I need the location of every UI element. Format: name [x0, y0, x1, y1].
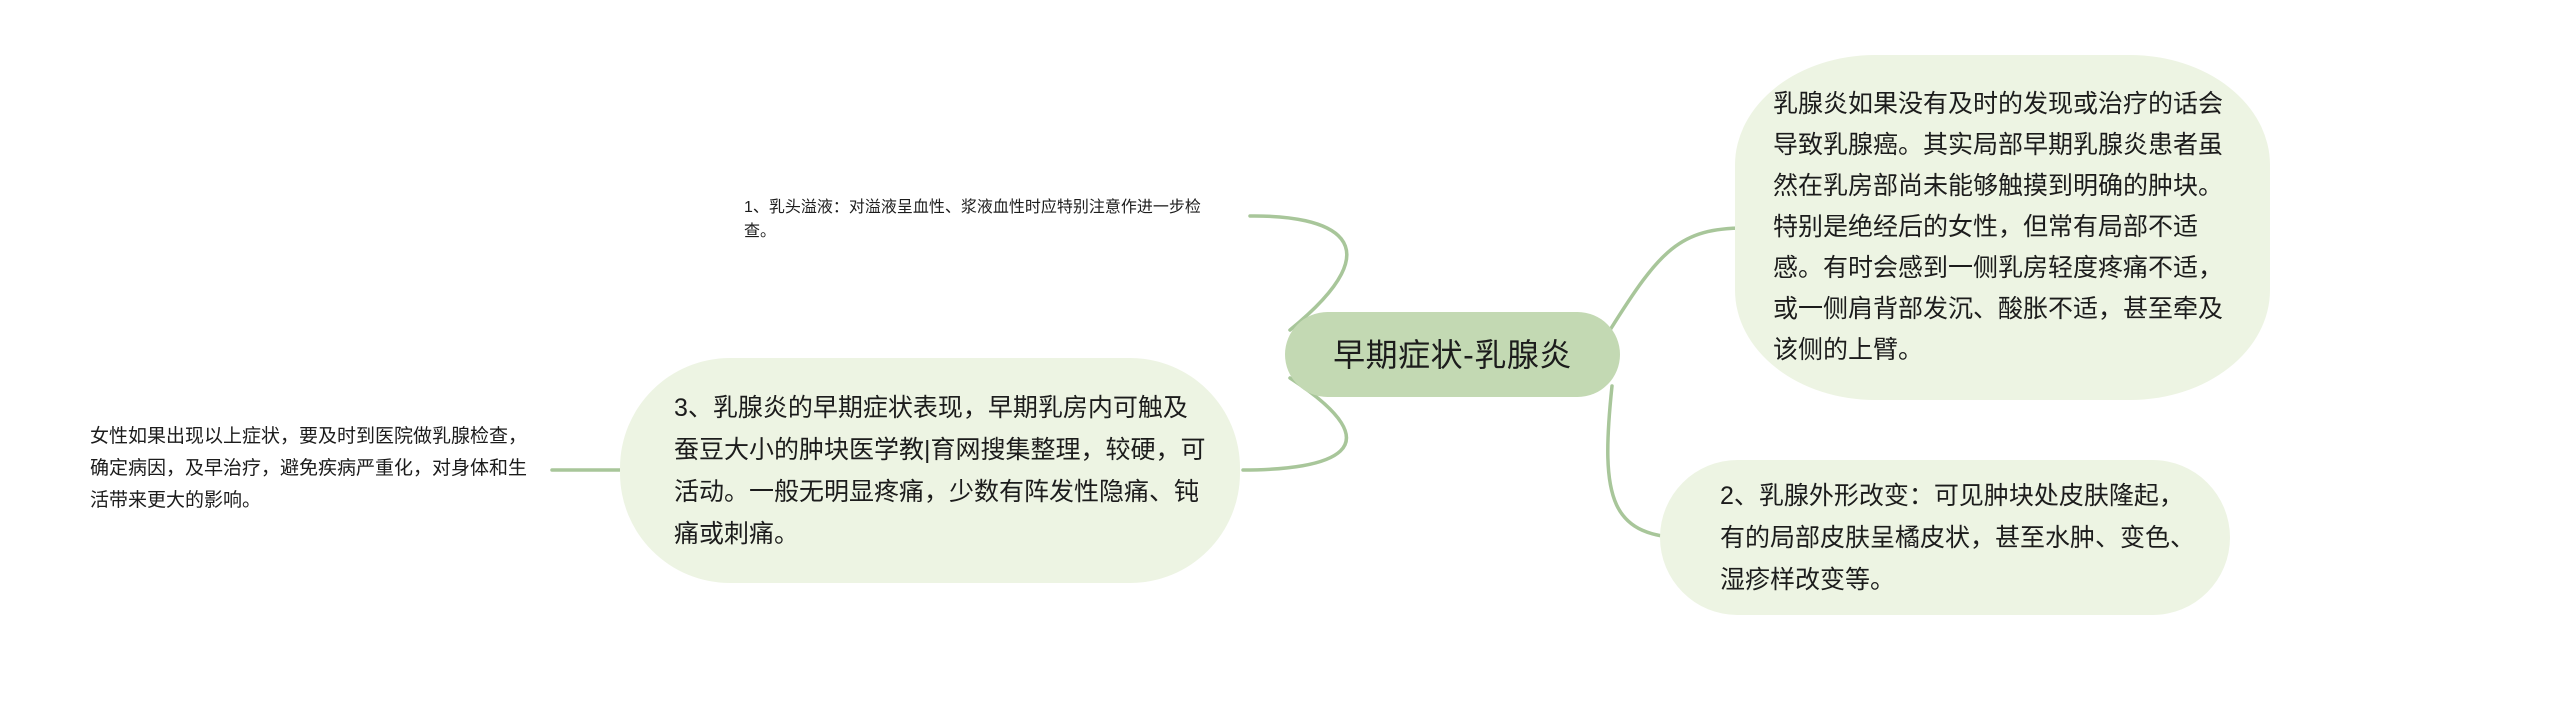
- node-complication-warning[interactable]: 乳腺炎如果没有及时的发现或治疗的话会导致乳腺癌。其实局部早期乳腺炎患者虽然在乳房…: [1735, 55, 2270, 400]
- edge-root-to-branch: [1610, 228, 1745, 330]
- root-node[interactable]: 早期症状-乳腺炎: [1285, 312, 1620, 397]
- root-node-label: 早期症状-乳腺炎: [1285, 335, 1620, 375]
- node-shape-change-label: 2、乳腺外形改变：可见肿块处皮肤隆起，有的局部皮肤呈橘皮状，甚至水肿、变色、湿疹…: [1720, 475, 2202, 601]
- node-early-symptoms[interactable]: 3、乳腺炎的早期症状表现，早期乳房内可触及蚕豆大小的肿块医学教|育网搜集整理，较…: [620, 358, 1240, 583]
- node-early-symptoms-label: 3、乳腺炎的早期症状表现，早期乳房内可触及蚕豆大小的肿块医学教|育网搜集整理，较…: [674, 387, 1206, 555]
- note-advice: 女性如果出现以上症状，要及时到医院做乳腺检查，确定病因，及早治疗，避免疾病严重化…: [90, 414, 545, 524]
- node-shape-change[interactable]: 2、乳腺外形改变：可见肿块处皮肤隆起，有的局部皮肤呈橘皮状，甚至水肿、变色、湿疹…: [1660, 460, 2230, 615]
- note-advice-label: 女性如果出现以上症状，要及时到医院做乳腺检查，确定病因，及早治疗，避免疾病严重化…: [90, 421, 545, 517]
- mind-map-canvas: 1、乳头溢液：对溢液呈血性、浆液血性时应特别注意作进一步检查。 3、乳腺炎的早期…: [0, 0, 2560, 705]
- node-nipple-discharge[interactable]: 1、乳头溢液：对溢液呈血性、浆液血性时应特别注意作进一步检查。: [690, 152, 1255, 282]
- node-complication-warning-label: 乳腺炎如果没有及时的发现或治疗的话会导致乳腺癌。其实局部早期乳腺炎患者虽然在乳房…: [1773, 84, 2242, 371]
- node-nipple-discharge-label: 1、乳头溢液：对溢液呈血性、浆液血性时应特别注意作进一步检查。: [744, 193, 1219, 241]
